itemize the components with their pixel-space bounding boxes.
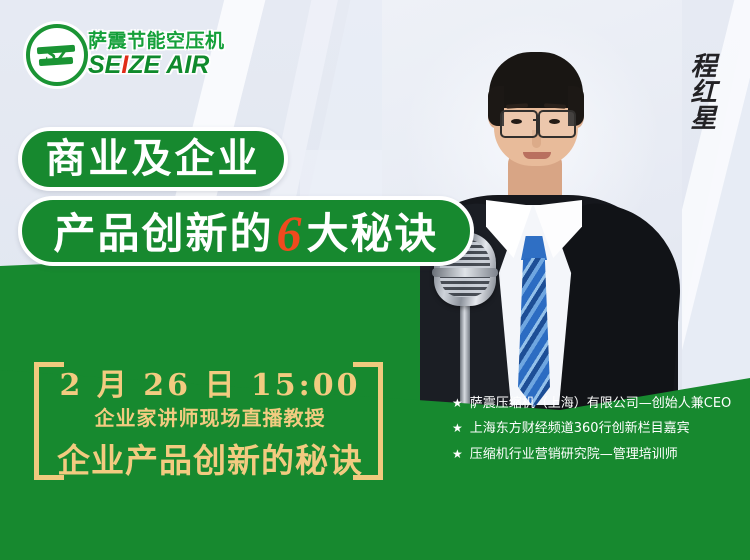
brand-logo[interactable]: SZ 萨震节能空压机 SEIZE AIR: [26, 20, 236, 82]
headline-pill-1: 商业及企业: [18, 127, 288, 191]
event-topic: 企业产品创新的秘诀: [30, 434, 390, 482]
credential-text: 压缩机行业营销研究院—管理培训师: [470, 447, 678, 463]
event-details: 2 月 26 日 15:00 企业家讲师现场直播教授 企业产品创新的秘诀: [30, 352, 390, 492]
logo-circle-icon: SZ: [26, 24, 88, 86]
brand-en-post: ZE AIR: [128, 51, 209, 79]
list-item: ★ 上海东方财经频道360行创新栏目嘉宾: [452, 421, 742, 437]
speaker-eye-left: [511, 119, 522, 124]
headline-line-2-post: 大秘诀: [307, 209, 439, 258]
headline-number: 6: [274, 208, 307, 258]
star-icon: ★: [452, 396, 463, 412]
brand-name-chinese: 萨震节能空压机: [88, 26, 225, 53]
credentials-list: ★ 萨震压缩机（上海）有限公司—创始人兼CEO ★ 上海东方财经频道360行创新…: [452, 396, 742, 472]
glasses-bridge: [533, 119, 540, 121]
credential-text: 上海东方财经频道360行创新栏目嘉宾: [470, 421, 690, 437]
glasses-icon: [538, 110, 576, 138]
event-date-time: 2 月 26 日 15:00: [30, 360, 390, 404]
headline-pill-2: 产品创新的6大秘诀: [18, 196, 474, 266]
list-item: ★ 压缩机行业营销研究院—管理培训师: [452, 447, 742, 463]
speaker-name-vertical: 程红星: [676, 52, 720, 130]
brand-name-english: SEIZE AIR: [88, 51, 209, 80]
star-icon: ★: [452, 447, 463, 463]
speaker-eye-right: [549, 119, 560, 124]
event-subtitle: 企业家讲师现场直播教授: [30, 402, 390, 431]
glasses-icon: [500, 110, 538, 138]
speaker-tie: [518, 258, 550, 408]
brand-en-pre: SE: [88, 51, 121, 79]
credential-text: 萨震压缩机（上海）有限公司—创始人兼CEO: [470, 396, 732, 412]
list-item: ★ 萨震压缩机（上海）有限公司—创始人兼CEO: [452, 396, 742, 412]
star-icon: ★: [452, 421, 463, 437]
logo-monogram: SZ: [42, 40, 72, 70]
headline-line-2-pre: 产品创新的: [53, 209, 273, 258]
headline-line-2: 产品创新的6大秘诀: [53, 206, 438, 256]
promotional-poster: SZ 萨震节能空压机 SEIZE AIR 商业及企业 产品创新的6大秘诀 程红星…: [0, 0, 750, 560]
headline-line-1: 商业及企业: [46, 139, 261, 179]
microphone-band: [432, 268, 498, 277]
speaker-mouth: [523, 152, 551, 159]
